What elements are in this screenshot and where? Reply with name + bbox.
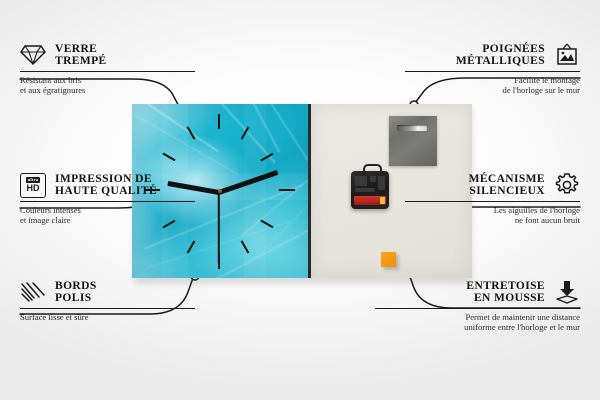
clock-second-hand [218,192,220,264]
feature-title-line2: SILENCIEUX [469,185,545,197]
feature-title-line1: ENTRETOISE [466,280,545,292]
feature-title-line1: MÉCANISME [469,173,545,185]
feature-desc-line2: uniforme entre l'horloge et le mur [464,322,580,332]
feature-poignees-metalliques: POIGNÉES MÉTALLIQUES Facilite le montage… [405,42,580,96]
hd-badge-ultra-label: ultra [26,177,40,183]
gear-icon [554,172,580,198]
feature-desc-line2: et aux égratignures [20,85,85,95]
feature-desc-line1: Les aiguilles de l'horloge [494,205,580,215]
feature-title-line1: BORDS [55,280,97,292]
feature-title-line2: MÉTALLIQUES [456,55,545,67]
feature-mecanisme-silencieux: MÉCANISME SILENCIEUX Les aiguilles de l'… [405,172,580,226]
feature-title-line2: EN MOUSSE [474,292,545,304]
feature-desc-line1: Surface lisse et sûre [20,312,89,322]
diamond-icon [20,42,46,68]
feature-desc-line2: ne font aucun bruit [515,215,580,225]
feature-title-line1: POIGNÉES [482,43,545,55]
infographic-canvas: VERRE TREMPÉ Résistant aux bris et aux é… [0,0,600,400]
feature-impression-haute-qualite: ultra HD IMPRESSION DE HAUTE QUALITÉ Cou… [20,172,195,226]
clock-tick [279,189,295,191]
feature-underline [375,308,580,309]
feature-underline [405,201,580,202]
feature-title-line1: VERRE [55,43,97,55]
metal-hanger-plate-icon [389,116,437,166]
feature-title-line2: TREMPÉ [55,55,107,67]
foam-spacer-icon [554,279,580,305]
feature-title-line1: IMPRESSION DE [55,173,152,185]
feature-title-line2: HAUTE QUALITÉ [55,185,157,197]
feature-bords-polis: BORDS POLIS Surface lisse et sûre [20,279,195,322]
polished-edges-icon [20,279,46,305]
mechanism-battery [354,196,386,205]
feature-verre-trempe: VERRE TREMPÉ Résistant aux bris et aux é… [20,42,195,96]
feature-desc-line2: de l'horloge sur le mur [503,85,580,95]
clock-center-pin [218,189,222,193]
feature-desc-line2: et image claire [20,215,71,225]
feature-underline [20,71,195,72]
feature-desc-line1: Résistant aux bris [20,75,81,85]
feature-desc-line1: Facilite le montage [514,75,580,85]
feature-desc-line1: Couleurs intenses [20,205,81,215]
clock-tick [218,114,220,129]
feature-underline [20,201,195,202]
wall-frame-icon [554,42,580,68]
feature-title-line2: POLIS [55,292,92,304]
feature-desc-line1: Permet de maintenir une distance [465,312,580,322]
battery-positive-tip [380,197,385,204]
feature-underline [405,71,580,72]
mechanism-hanger-loop [363,164,382,175]
hd-badge-main-label: HD [27,184,40,193]
clock-mechanism [351,171,389,209]
ultra-hd-icon: ultra HD [20,172,46,198]
feature-entretoise-en-mousse: ENTRETOISE EN MOUSSE Permet de maintenir… [375,279,580,333]
foam-spacer [381,252,396,267]
feature-underline [20,308,195,309]
hanger-slot [397,125,427,131]
